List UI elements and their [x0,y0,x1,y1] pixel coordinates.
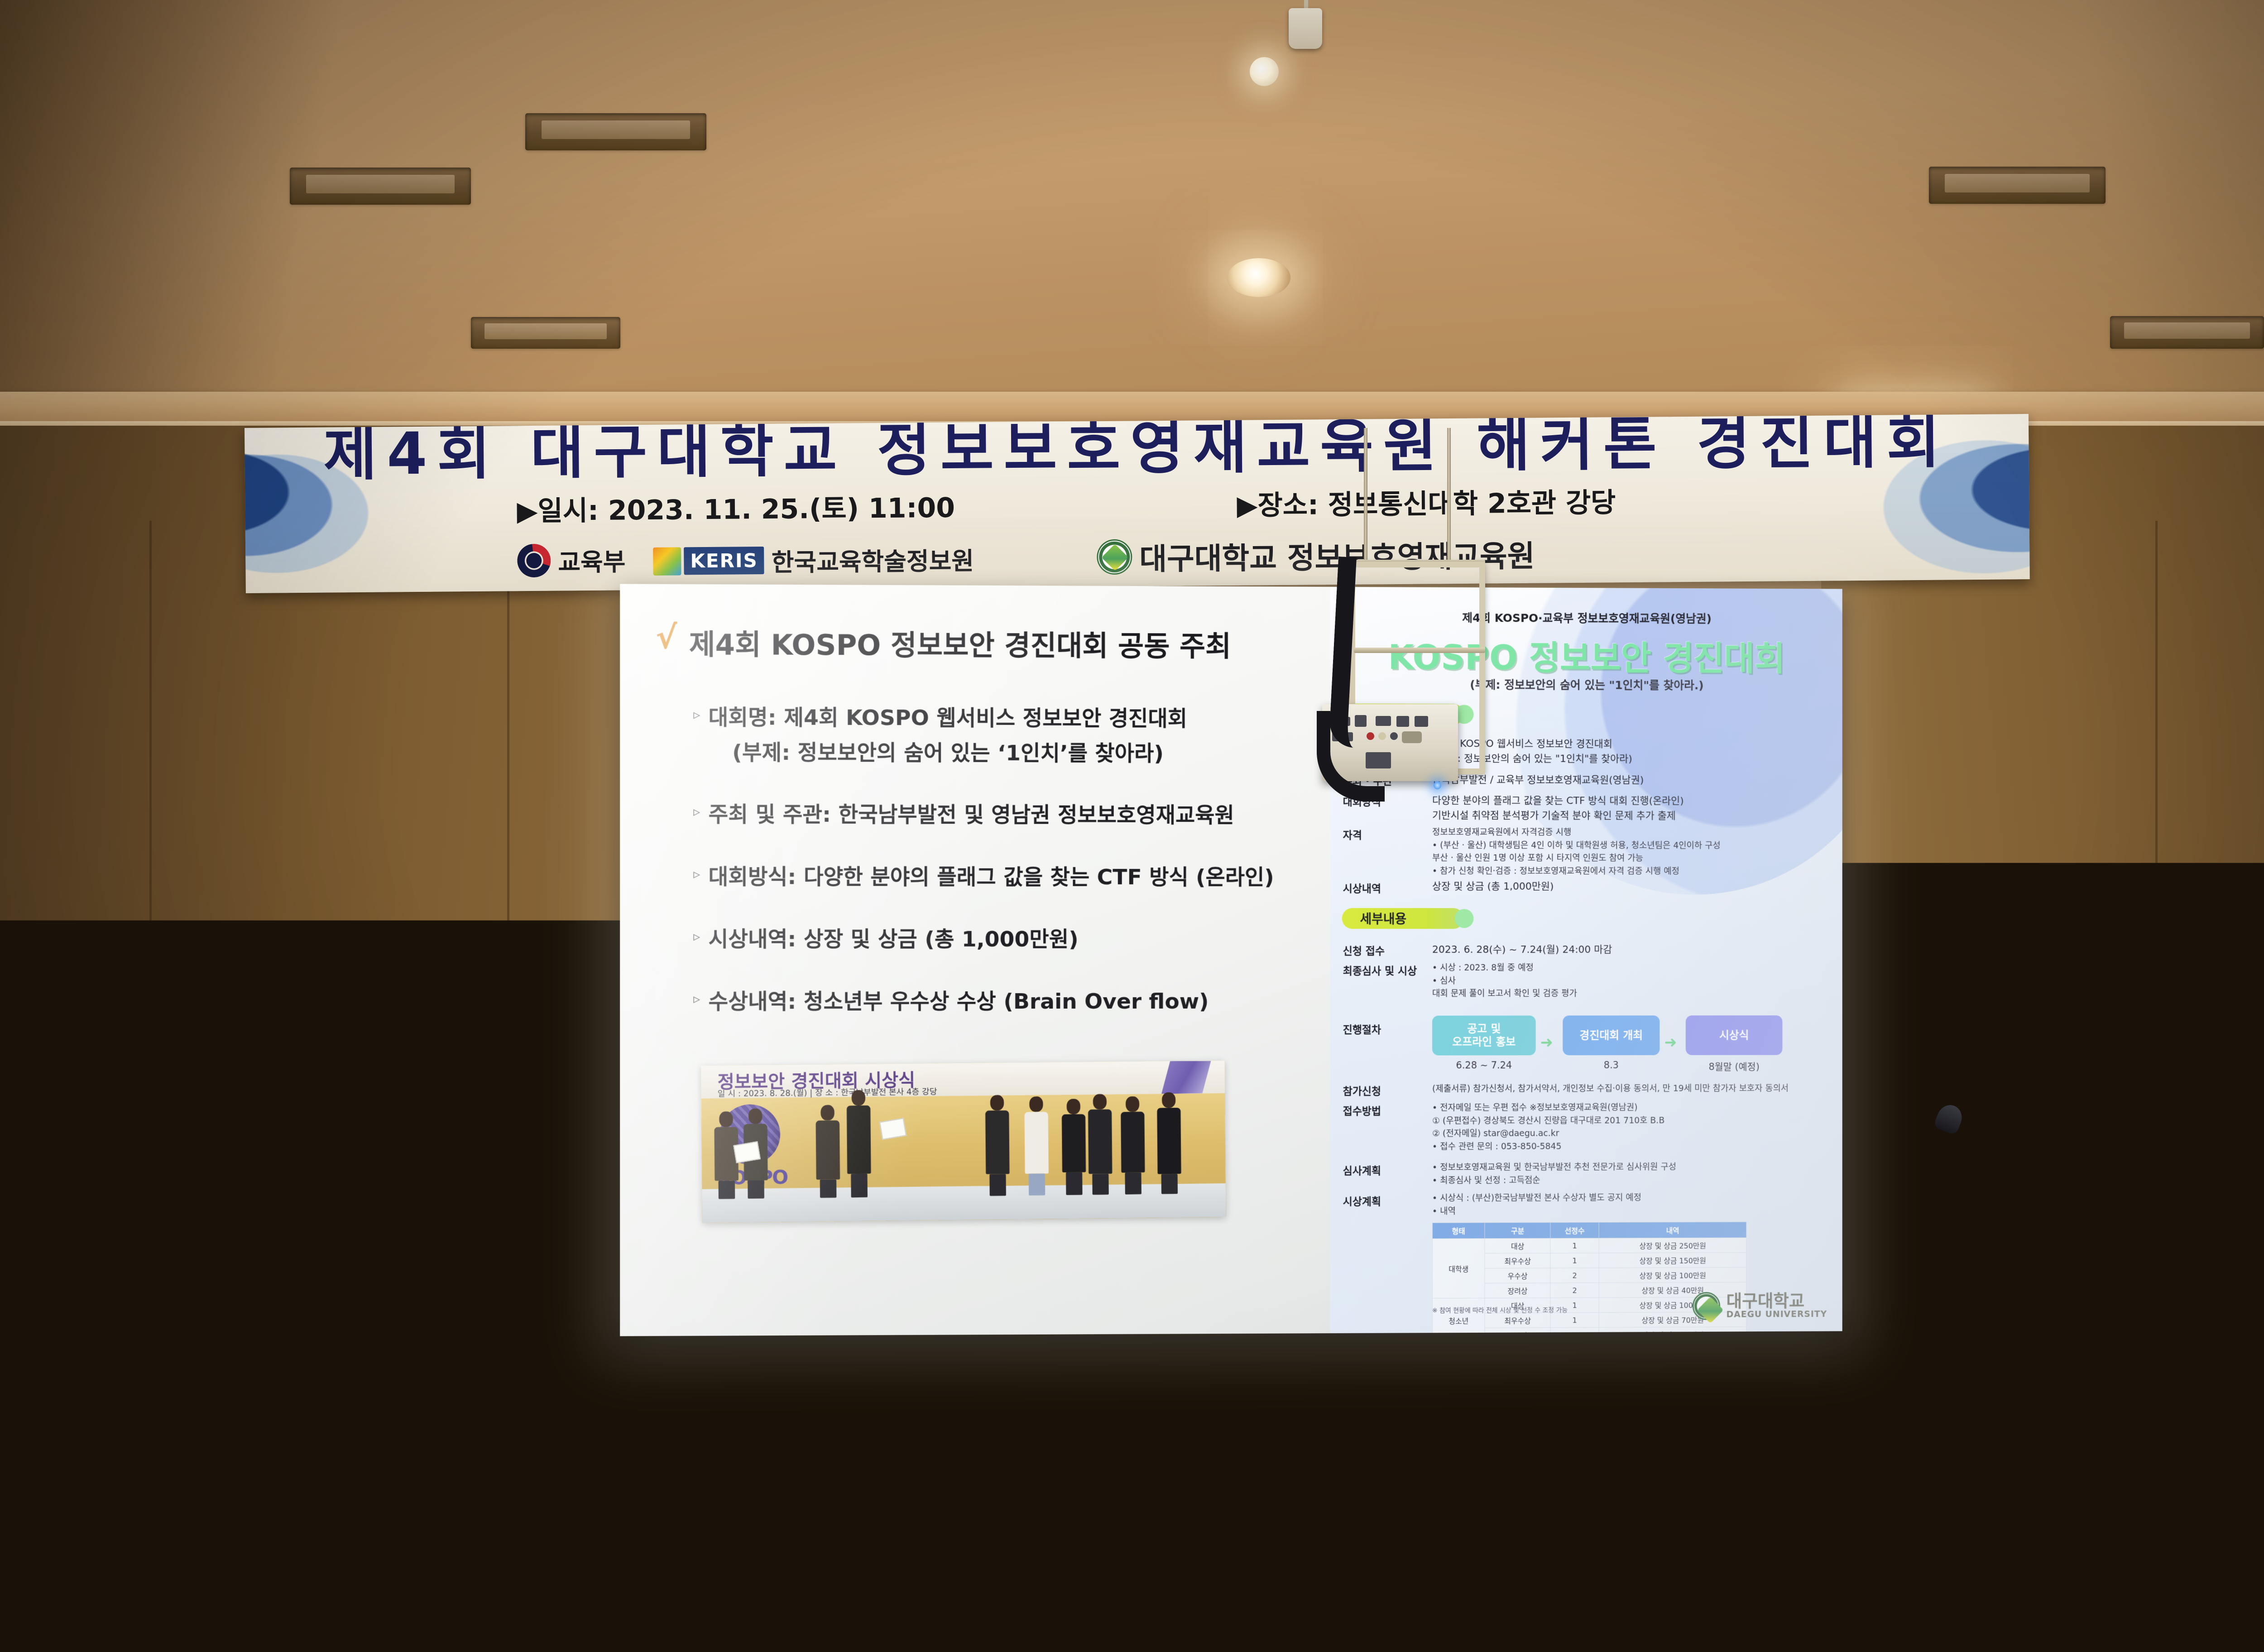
flow-step-2-caption: 8.3 [1563,1060,1660,1071]
projector-mount-rod [1447,428,1451,564]
slide-heading-row: √ 제4회 KOSPO 정보보안 경진대회 공동 주최 [656,621,1231,664]
overview-row-label: 시상내역 [1343,880,1381,895]
attendee-head [430,1508,516,1590]
attendee-head [1390,1413,1476,1498]
detail-row-label: 심사계획 [1343,1162,1381,1177]
detail-row-value: 2023. 6. 28(수) ~ 7.24(월) 24:00 마감 [1432,942,1827,957]
poster-section-detail-pill: 세부내용 [1342,908,1464,929]
projector-knob [1390,732,1398,740]
spotlight-lamp [1250,57,1279,86]
banner-organizations: 교육부 KERIS 한국교육학술정보원 대구대학교 정보보호영재교육원 [245,531,2030,590]
footer-logo-kr: 대구대학교 [1727,1291,1805,1311]
detail-row-label: 최종심사 및 시상 [1343,962,1417,978]
attendee-head [312,1333,397,1417]
detail-row-label: 신청 접수 [1343,942,1385,958]
cell: 상장 및 상금 100만원 [1599,1268,1746,1283]
detail-row-value: • 정보보호영재교육원 및 한국남부발전 추천 전문가로 심사위원 구성 • 최… [1432,1160,1827,1187]
glasses-icon [2039,1013,2065,1033]
detail-row-label: 접수방법 [1343,1102,1381,1118]
award-photo-banner: 정보보안 경진대회 시상식 일 시 : 2023. 8. 28.(월) | 장 … [701,1061,1225,1099]
overview-row-value: 한국남부발전 / 교육부 정보보호영재교육원(영남권) [1432,773,1827,788]
keris-icon: KERIS [653,546,764,575]
attendee-head [2078,1455,2165,1540]
attendee-head [1639,1435,1728,1522]
flow-arrow-icon: ➜ [1540,1033,1553,1052]
bullet-marker-icon: ▹ [693,800,700,830]
attendee-head [1508,1330,1591,1415]
bullet-main: 시상내역: 상장 및 상금 (총 1,000만원) [709,924,1079,955]
projector-port [1396,716,1409,727]
attendee-head [1924,1339,2004,1418]
detail-row-label: 시상계획 [1343,1193,1381,1208]
projector-power-led [1434,782,1441,789]
award-banner-subtitle: 일 시 : 2023. 8. 28.(월) | 장 소 : 한국남부발전 본사 … [718,1085,937,1099]
attendee-head [1798,1443,1885,1529]
attendee-head [1500,1425,1593,1515]
cell: 상장 및 상금 150만원 [1599,1253,1746,1268]
detail-row-value: • 시상 : 2023. 8월 중 예정 • 심사 대회 문제 풀이 보고서 확… [1432,961,1827,1000]
table-header-row: 형태 구분 선정수 내역 [1432,1222,1746,1239]
banner-title: 제4회 대구대학교 정보보호영재교육원 해커톤 경진대회 [245,414,2029,492]
person-figure [815,1105,840,1198]
overview-row-value: 제4회 KOSPO 웹서비스 정보보안 경진대회 (부제 : 정보보안의 숨어 … [1432,736,1827,767]
person-awardee [1157,1092,1181,1194]
cell: 대상 [1485,1238,1550,1253]
ceiling-light-trough [2110,316,2264,349]
attendee-head [679,1437,766,1523]
column-header: 구분 [1485,1222,1550,1238]
spotlight-housing [1289,8,1322,49]
presenter [1943,969,2169,1377]
attendee-head [1934,1448,2025,1537]
cell: 상장 및 상금 250만원 [1599,1238,1746,1253]
attendee-shoulders [1766,1508,1915,1652]
flow-arrow-icon: ➜ [1664,1033,1677,1052]
bullet-marker-icon: ▹ [693,862,700,893]
bullet-marker-icon: ▹ [693,924,700,955]
cell: 2 [1550,1283,1599,1298]
column-header: 선정수 [1550,1222,1599,1238]
flow-step-1-caption: 6.28 ~ 7.24 [1432,1060,1536,1071]
smartphone [1262,1497,1306,1570]
smartphone-screen [1267,1502,1301,1565]
footer-logo-en: DAEGU UNIVERSITY [1727,1309,1828,1320]
bullet-main: 주최 및 주관: 한국남부발전 및 영남권 정보보호영재교육원 [709,800,1234,831]
overview-row-value: 상장 및 상금 (총 1,000만원) [1432,879,1827,894]
flow-step-2: 경진대회 개최 [1563,1015,1660,1055]
glasses-icon [2007,1013,2033,1033]
attendee-head [159,1395,254,1485]
person-award-presenter [847,1090,871,1198]
banner-place: ▶장소: 정보통신대학 2호관 강당 [1237,480,1616,523]
cell: 대학생 [1432,1239,1485,1298]
poster-footer-logo: 대구대학교 DAEGU UNIVERSITY [1692,1292,1827,1320]
overview-row-value: 다양한 분야의 플래그 값을 찾는 CTF 방식 대회 진행(온라인) 기반시설… [1432,793,1827,824]
projector-cage-crossbar [1354,648,1485,653]
cell: 1 [1550,1312,1599,1327]
glasses-bridge [2031,1020,2041,1023]
attendee-head [1644,1337,1722,1416]
person-awardee [1088,1094,1113,1195]
bullet-main: 대회명: 제4회 KOSPO 웹서비스 정보보안 경진대회 [709,705,1187,731]
detail-row-label: 참가신청 [1343,1083,1381,1098]
attendee-shoulders [1612,1499,1757,1652]
projector-lens [1402,731,1422,743]
cell: 장려상 [1485,1283,1550,1298]
bullet-main: 대회방식: 다양한 분야의 플래그 값을 찾는 CTF 방식 (온라인) [709,862,1274,893]
flow-step-1: 공고 및 오프라인 홍보 [1432,1016,1536,1056]
bullet-main: 수상내역: 청소년부 우수상 수상 (Brain Over flow) [709,987,1209,1017]
attendee-head [5,1474,95,1563]
attendee-head [547,1429,637,1518]
keris-wordmark: KERIS [684,547,764,575]
list-item: ▹ 주최 및 주관: 한국남부발전 및 영남권 정보보호영재교육원 [693,800,1339,831]
overview-row-label: 자격 [1343,826,1362,842]
ceiling-light-trough [525,113,706,150]
bullet-subtitle: (부제: 정보보안의 숨어 있는 ‘1인치’를 찾아라) [709,738,1187,769]
detail-row-value: • 시상식 : (부산)한국남부발전 본사 수상자 별도 공지 예정 • 내역 [1432,1191,1827,1218]
check-mark-icon: √ [656,621,677,653]
detail-row-value: • 전자메일 또는 우편 접수 ※정보보호영재교육원(영남권) ① (우편접수)… [1432,1101,1827,1153]
org-keris: KERIS 한국교육학술정보원 [653,541,974,579]
banner-date: ▶일시: 2023. 11. 25.(토) 11:00 [517,486,955,529]
attendee-shoulders [113,1522,217,1652]
person-awardee [985,1095,1010,1196]
bullet-text: 대회명: 제4회 KOSPO 웹서비스 정보보안 경진대회 (부제: 정보보안의… [709,703,1187,769]
attendee-head [797,1519,883,1600]
slide-bullet-list: ▹ 대회명: 제4회 KOSPO 웹서비스 정보보안 경진대회 (부제: 정보보… [693,703,1339,1049]
award-banner-chevron-icon [1161,1061,1211,1094]
overview-row-value: 정보보호영재교육원에서 자격검증 시행 • (부산 · 울산) 대학생팀은 4인… [1432,826,1827,878]
person-awardee [1121,1096,1145,1195]
projection-screen: √ 제4회 KOSPO 정보보안 경진대회 공동 주최 ▹ 대회명: 제4회 K… [620,584,1842,1336]
attendee-shoulders [2210,1526,2264,1652]
attendee-head [421,1423,505,1506]
attendee-head [290,1405,379,1493]
flow-step-3: 시상식 [1686,1015,1783,1055]
bullet-marker-icon: ▹ [693,703,700,768]
flow-step-3-caption: 8월말 (예정) [1686,1060,1783,1073]
cell: 1 [1550,1253,1599,1268]
bullet-marker-icon: ▹ [693,987,700,1017]
projector-mount-rod [1364,428,1367,564]
cell: 최우수상 [1485,1313,1550,1328]
column-header: 내역 [1599,1222,1746,1238]
attendee-head [1780,1341,1856,1418]
ceiling-light-trough [471,317,620,349]
auditorium-scene: 제4회 대구대학교 정보보호영재교육원 해커톤 경진대회 ▶일시: 2023. … [0,0,2264,1652]
cell: 1 [1550,1238,1599,1253]
column-header: 형태 [1432,1223,1485,1239]
attendee-hair [245,1540,371,1652]
ceiling-light-trough [1929,167,2106,204]
prize-table-note: ※ 참여 현황에 따라 전체 시상 및 선정 수 조정 가능 [1432,1305,1568,1315]
cell: 2 [1550,1268,1599,1283]
award-ceremony-photo: 정보보안 경진대회 시상식 일 시 : 2023. 8. 28.(월) | 장 … [701,1061,1226,1223]
table-row: 대학생 대상 1 상장 및 상금 250만원 [1432,1238,1746,1253]
list-item: ▹ 대회명: 제4회 KOSPO 웹서비스 정보보안 경진대회 (부제: 정보보… [693,703,1339,769]
award-photo-floor [702,1183,1226,1223]
projector-port [1415,716,1428,727]
event-banner: 제4회 대구대학교 정보보호영재교육원 해커톤 경진대회 ▶일시: 2023. … [245,414,2030,593]
certificate [879,1118,907,1140]
attendee-hair [580,1553,706,1652]
cell: 최우수상 [1485,1253,1550,1268]
cell: 우수상 [1485,1268,1550,1283]
ceiling-light-trough [290,168,471,205]
daegu-university-emblem-icon [1692,1292,1720,1320]
attendee-head [1377,1332,1458,1415]
daegu-university-emblem-icon [1097,539,1132,575]
detail-row-value: (제출서류) 참가신청서, 참가서약서, 개인정보 수집·이용 동의서, 만 1… [1432,1082,1836,1095]
list-item: ▹ 시상내역: 상장 및 상금 (총 1,000만원) [693,924,1339,955]
attendee-shoulders [1358,1476,1508,1652]
detail-row-label: 진행절차 [1343,1021,1381,1037]
attendee-head [561,1340,638,1417]
org-moe-label: 교육부 [558,542,626,578]
person-awardee [1024,1096,1049,1196]
list-item: ▹ 수상내역: 청소년부 우수상 수상 (Brain Over flow) [693,987,1339,1018]
moe-taegeuk-icon [517,543,551,577]
attendee-hand [1313,1524,1345,1579]
ceiling-downlight [1227,258,1290,297]
list-item: ▹ 대회방식: 다양한 분야의 플래그 값을 찾는 CTF 방식 (온라인) [693,862,1339,893]
person-awardee [1062,1099,1086,1195]
org-keris-label: 한국교육학술정보원 [771,541,974,578]
slide-heading: 제4회 KOSPO 정보보안 경진대회 공동 주최 [689,622,1231,664]
org-moe: 교육부 [517,542,626,578]
audience-area [0,1327,2264,1652]
